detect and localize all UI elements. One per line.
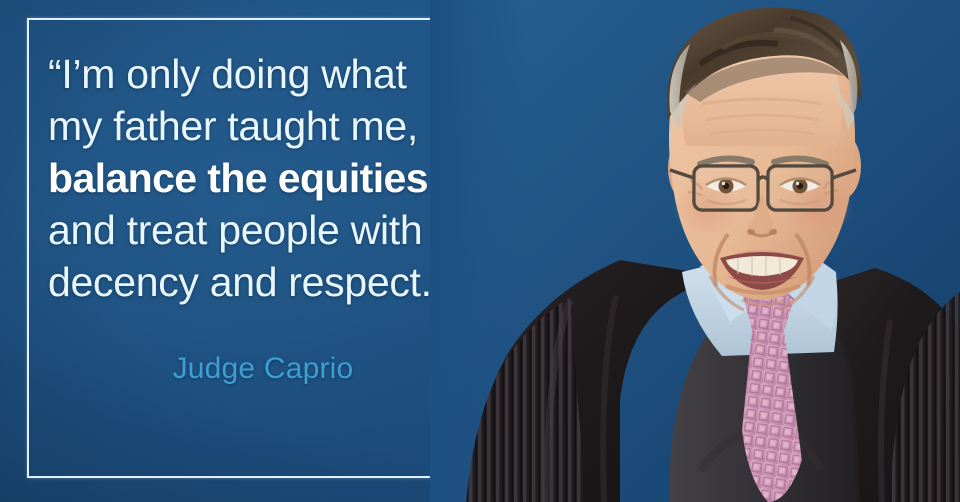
judge-portrait-image xyxy=(370,0,960,502)
quote-card: “I’m only doing what my father taught me… xyxy=(0,0,960,502)
